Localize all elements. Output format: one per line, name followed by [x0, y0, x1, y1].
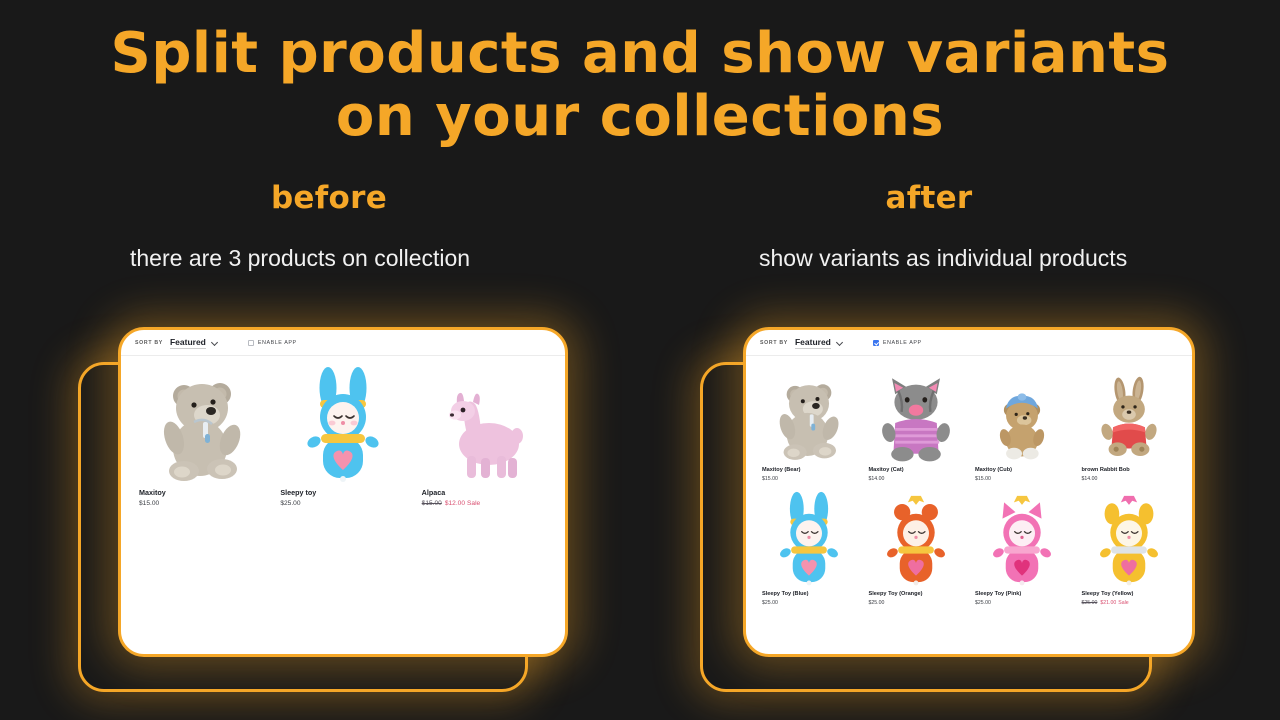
product-price: $15.00: [975, 476, 1076, 482]
column-before: before there are 3 products on collectio…: [60, 180, 590, 274]
product-old-price: $25.00: [1082, 600, 1098, 606]
product-price: $25.00: [869, 600, 970, 606]
product-price: $15.00: [139, 500, 272, 507]
product-sale-tag: Sale: [467, 500, 480, 507]
product-name: Alpaca: [422, 488, 555, 497]
product-image-sleepy-orange: [863, 488, 970, 591]
product-image-bear-gray: [131, 368, 272, 488]
product-card[interactable]: Sleepy Toy (Blue) $25.00: [756, 488, 863, 606]
shop-toolbar-after: SORT BY Featured ENABLE APP: [746, 330, 1192, 356]
product-card[interactable]: Maxitoy (Cub) $15.00: [969, 364, 1076, 482]
product-card[interactable]: Sleepy Toy (Orange) $25.00: [863, 488, 970, 606]
sort-by-select[interactable]: Featured: [795, 337, 831, 349]
product-card[interactable]: Sleepy Toy (Pink) $25.00: [969, 488, 1076, 606]
product-price: $25.00: [762, 600, 863, 606]
product-image-sleepy-yellow: [1076, 488, 1183, 591]
card-stack-before: SORT BY Featured ENABLE APP: [78, 327, 568, 692]
column-before-description: there are 3 products on collection: [60, 243, 590, 274]
product-sale-price: $21.00: [1100, 600, 1116, 606]
product-price: $14.00: [1082, 476, 1183, 482]
product-card[interactable]: Maxitoy (Bear) $15.00: [756, 364, 863, 482]
column-after-description: show variants as individual products: [690, 243, 1220, 274]
collection-preview-after: SORT BY Featured ENABLE APP: [743, 327, 1195, 657]
product-name: Sleepy Toy (Yellow): [1082, 591, 1183, 597]
product-image-bear-gray: [756, 364, 863, 467]
product-image-sleepy-blue: [756, 488, 863, 591]
enable-app-label: ENABLE APP: [258, 340, 297, 346]
chevron-down-icon[interactable]: [212, 339, 219, 346]
product-name: Sleepy Toy (Blue): [762, 591, 863, 597]
product-card[interactable]: Alpaca $15.00$12.00Sale: [414, 368, 555, 507]
enable-app-toggle[interactable]: ENABLE APP: [873, 340, 922, 346]
product-name: Sleepy toy: [280, 488, 413, 497]
product-price: $25.00: [280, 500, 413, 507]
product-name: Maxitoy (Cat): [869, 467, 970, 473]
product-old-price: $15.00: [422, 500, 442, 507]
sort-by-label: SORT BY: [135, 340, 163, 346]
sort-by-label: SORT BY: [760, 340, 788, 346]
product-price: $25.00$21.00Sale: [1082, 600, 1183, 606]
page-title-line-2: on your collections: [0, 85, 1280, 148]
column-after: after show variants as individual produc…: [690, 180, 1220, 274]
product-card[interactable]: Maxitoy $15.00: [131, 368, 272, 507]
product-name: Sleepy Toy (Pink): [975, 591, 1076, 597]
enable-app-checkbox[interactable]: [248, 340, 254, 346]
product-name: Maxitoy: [139, 488, 272, 497]
column-after-title: after: [674, 180, 1184, 216]
product-image-sleepy-blue: [272, 368, 413, 488]
product-name: Maxitoy (Bear): [762, 467, 863, 473]
product-image-rabbit-brown: [1076, 364, 1183, 467]
product-image-cat-gray: [863, 364, 970, 467]
product-price: $14.00: [869, 476, 970, 482]
sort-by-select[interactable]: Featured: [170, 337, 206, 349]
enable-app-toggle[interactable]: ENABLE APP: [248, 340, 297, 346]
enable-app-label: ENABLE APP: [883, 340, 922, 346]
product-name: Sleepy Toy (Orange): [869, 591, 970, 597]
product-name: Maxitoy (Cub): [975, 467, 1076, 473]
product-card[interactable]: brown Rabbit Bob $14.00: [1076, 364, 1183, 482]
product-price: $25.00: [975, 600, 1076, 606]
product-card[interactable]: Sleepy Toy (Yellow) $25.00$21.00Sale: [1076, 488, 1183, 606]
product-price: $15.00: [762, 476, 863, 482]
product-grid-before: Maxitoy $15.00: [121, 356, 565, 507]
card-stack-after: SORT BY Featured ENABLE APP: [700, 327, 1195, 692]
enable-app-checkbox[interactable]: [873, 340, 879, 346]
product-image-bear-blue-hat: [969, 364, 1076, 467]
collection-preview-before: SORT BY Featured ENABLE APP: [118, 327, 568, 657]
product-sale-tag: Sale: [1118, 600, 1128, 606]
product-image-sleepy-pink: [969, 488, 1076, 591]
shop-toolbar-before: SORT BY Featured ENABLE APP: [121, 330, 565, 356]
product-name: brown Rabbit Bob: [1082, 467, 1183, 473]
page-title: Split products and show variants on your…: [0, 22, 1280, 148]
product-card[interactable]: Sleepy toy $25.00: [272, 368, 413, 507]
page-title-line-1: Split products and show variants: [111, 21, 1170, 86]
product-grid-after: Maxitoy (Bear) $15.00: [746, 356, 1192, 606]
product-price: $15.00$12.00Sale: [422, 500, 555, 507]
product-sale-price: $12.00: [445, 500, 465, 507]
column-before-title: before: [54, 180, 604, 216]
product-card[interactable]: Maxitoy (Cat) $14.00: [863, 364, 970, 482]
product-image-alpaca-pink: [414, 368, 555, 488]
chevron-down-icon[interactable]: [837, 339, 844, 346]
